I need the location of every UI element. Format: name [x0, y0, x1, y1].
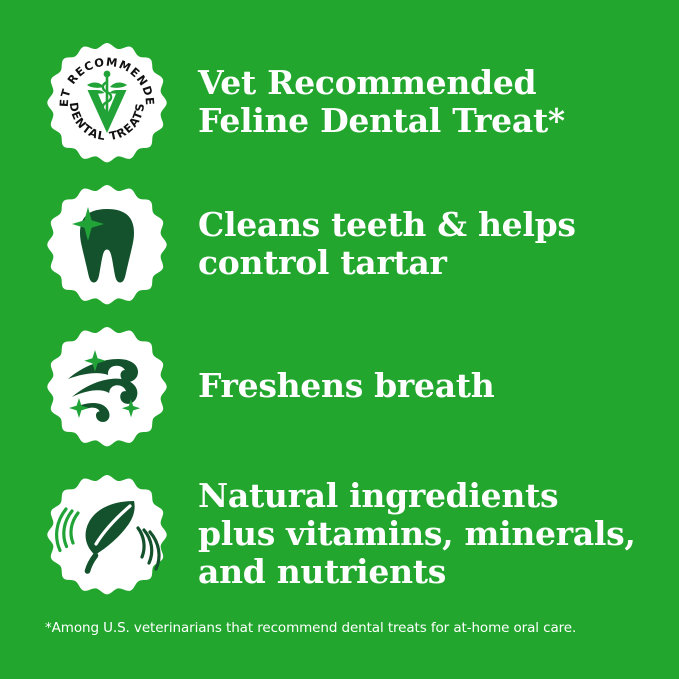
feature-row-vet-recommended: VET RECOMMENDED DENTAL TREATS	[0, 42, 679, 162]
vet-recommended-seal-icon: VET RECOMMENDED DENTAL TREATS	[46, 41, 168, 163]
feature-text-vet-recommended: Vet Recommended Feline Dental Treat*	[198, 64, 565, 141]
feature-panel: VET RECOMMENDED DENTAL TREATS	[0, 0, 679, 679]
feature-text-freshens-breath: Freshens breath	[198, 367, 494, 405]
feature-row-cleans-teeth: Cleans teeth & helps control tartar	[0, 184, 679, 304]
natural-leaf-icon	[46, 473, 168, 595]
feature-text-cleans-teeth: Cleans teeth & helps control tartar	[198, 206, 576, 283]
badge-freshens-breath	[42, 325, 172, 447]
fresh-breath-wind-icon	[46, 325, 168, 447]
feature-row-natural-ingredients: Natural ingredients plus vitamins, miner…	[0, 470, 679, 598]
feature-text-natural-ingredients: Natural ingredients plus vitamins, miner…	[198, 477, 636, 592]
footnote-disclaimer: *Among U.S. veterinarians that recommend…	[45, 620, 645, 638]
badge-vet-recommended: VET RECOMMENDED DENTAL TREATS	[42, 41, 172, 163]
badge-natural-ingredients	[42, 473, 172, 595]
badge-cleans-teeth	[42, 183, 172, 305]
feature-row-freshens-breath: Freshens breath	[0, 326, 679, 446]
sparkling-tooth-icon	[46, 183, 168, 305]
